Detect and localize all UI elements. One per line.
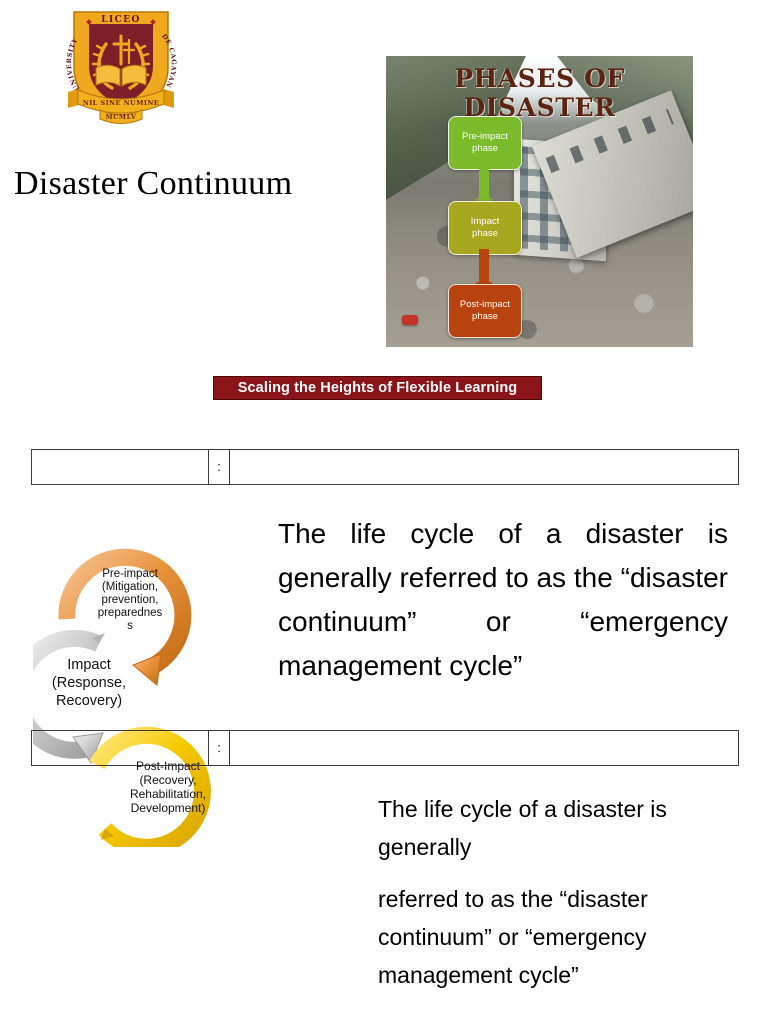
secondary-paragraph-block-1: The life cycle of a disaster is generall… xyxy=(378,790,723,866)
phases-of-disaster-image: PHASES OF DISASTER Pre-impact phase Impa… xyxy=(386,56,693,347)
cycle-label-pre-impact-line-1: (Mitigation, xyxy=(102,581,158,593)
table-cell-value[interactable] xyxy=(230,450,739,485)
cycle-label-pre-impact-line-3: preparednes xyxy=(98,607,163,619)
cycle-label-impact-line-2: Recovery) xyxy=(56,693,122,709)
phase-box-impact-line2: phase xyxy=(472,228,498,240)
phase-box-impact: Impact phase xyxy=(448,201,522,255)
table-cell-separator: : xyxy=(209,450,230,485)
phase-box-post-impact-line1: Post-impact xyxy=(460,299,510,311)
table-cell-separator: : xyxy=(209,731,230,766)
red-debris-speck xyxy=(402,315,418,325)
phase-box-post-impact-line2: phase xyxy=(472,311,498,323)
phase-box-impact-line1: Impact xyxy=(471,216,500,228)
info-table-bottom: : xyxy=(31,730,739,766)
secondary-paragraph: The life cycle of a disaster is generall… xyxy=(378,790,723,994)
table-row: : xyxy=(32,450,739,485)
university-crest: LICEO UNIVERSITY DE CAGAYAN NIL SINE NUM… xyxy=(62,6,180,126)
cycle-label-impact-line-1: (Response, xyxy=(52,675,126,691)
phase-box-post-impact: Post-impact phase xyxy=(448,284,522,338)
phase-arrow-pre-to-impact-icon xyxy=(479,164,489,201)
table-cell-value[interactable] xyxy=(230,731,739,766)
table-cell-label[interactable] xyxy=(32,450,209,485)
disaster-cycle-diagram: Pre-impact (Mitigation, prevention, prep… xyxy=(33,527,278,847)
cycle-label-pre-impact: Pre-impact (Mitigation, prevention, prep… xyxy=(98,568,163,632)
phase-arrow-impact-to-post-icon xyxy=(479,249,489,284)
main-paragraph: The life cycle of a disaster is generall… xyxy=(278,512,728,688)
cycle-label-post-impact-line-1: (Recovery, xyxy=(139,773,196,787)
phase-box-pre-impact-line1: Pre-impact xyxy=(462,131,508,143)
cycle-label-post-impact: Post-Impact (Recovery, Rehabilitation, D… xyxy=(130,759,206,815)
info-table-top: : xyxy=(31,449,739,485)
phase-box-pre-impact-line2: phase xyxy=(472,143,498,155)
cycle-label-impact-line-0: Impact xyxy=(67,657,111,673)
table-cell-label[interactable] xyxy=(32,731,209,766)
cycle-label-post-impact-line-2: Rehabilitation, xyxy=(130,787,206,801)
cycle-label-post-impact-line-3: Development) xyxy=(131,801,206,815)
cycle-label-pre-impact-line-0: Pre-impact xyxy=(102,568,158,580)
phases-figure-title: PHASES OF DISASTER xyxy=(386,64,693,122)
cycle-label-impact: Impact (Response, Recovery) xyxy=(52,657,126,709)
cycle-label-pre-impact-line-4: s xyxy=(127,620,133,632)
secondary-paragraph-block-2: referred to as the “disaster continuum” … xyxy=(378,880,723,994)
svg-text:MCMLV: MCMLV xyxy=(106,113,137,121)
phase-box-pre-impact: Pre-impact phase xyxy=(448,116,522,170)
table-row: : xyxy=(32,731,739,766)
page-title: Disaster Continuum xyxy=(14,163,292,205)
cycle-diagram-svg: Pre-impact (Mitigation, prevention, prep… xyxy=(33,527,278,847)
tagline-banner: Scaling the Heights of Flexible Learning xyxy=(213,376,542,400)
svg-text:LICEO: LICEO xyxy=(101,15,140,25)
svg-text:NIL SINE NUMINE: NIL SINE NUMINE xyxy=(83,99,159,107)
cycle-label-pre-impact-line-2: prevention, xyxy=(102,594,159,606)
crest-svg: LICEO UNIVERSITY DE CAGAYAN NIL SINE NUM… xyxy=(62,6,180,126)
